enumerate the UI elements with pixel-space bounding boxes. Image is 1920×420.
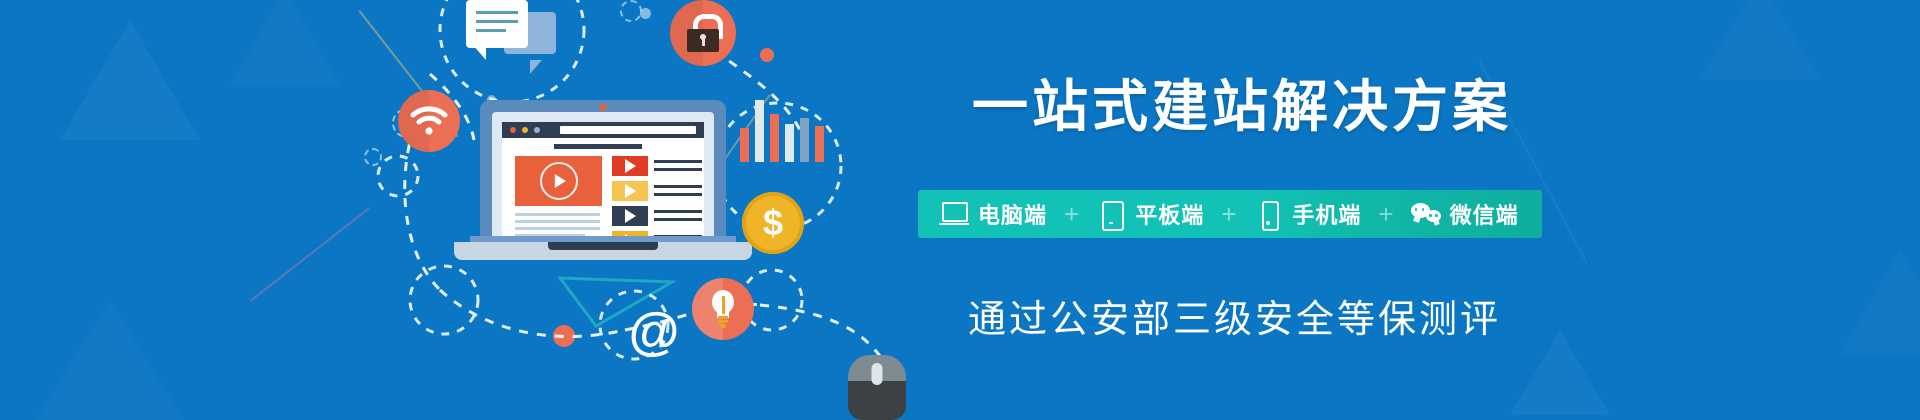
- tablet-icon: [1096, 201, 1126, 227]
- mouse-icon: [848, 355, 906, 420]
- laptop-camera: [600, 104, 607, 111]
- body-text-line: [515, 220, 600, 223]
- page-title: 一站式建站解决方案: [972, 62, 1512, 143]
- browser-dot-yellow: [522, 127, 528, 133]
- list-text-line: [654, 210, 702, 213]
- video-thumbnail: [612, 206, 648, 226]
- chart-bar: [740, 128, 749, 162]
- play-triangle-icon: [554, 174, 565, 188]
- device-item-phone[interactable]: 手机端: [1250, 198, 1364, 230]
- chart-bar: [755, 100, 764, 162]
- phone-icon: [1253, 201, 1283, 227]
- chart-bar: [770, 114, 779, 162]
- browser-dot-red: [510, 127, 516, 133]
- list-text-line: [654, 168, 702, 171]
- device-label: 平板端: [1135, 198, 1204, 230]
- plus-separator: +: [1364, 201, 1407, 227]
- list-text-line: [654, 218, 702, 221]
- dollar-coin-icon: $: [742, 192, 804, 254]
- plus-separator: +: [1207, 201, 1250, 227]
- device-item-desktop[interactable]: 电脑端: [936, 198, 1050, 230]
- video-thumbnail: [612, 181, 648, 201]
- browser-url-bar: [560, 126, 696, 134]
- chart-bar: [800, 118, 809, 162]
- mouse-body: [848, 381, 906, 420]
- mouse-wheel: [872, 363, 883, 385]
- list-text-line: [654, 193, 702, 196]
- promo-banner: $ @ 一站式建站解决方案 电脑端 + 平板端 +: [0, 0, 1920, 420]
- body-text-line: [515, 227, 600, 230]
- list-text-line: [654, 185, 702, 188]
- wifi-icon: [398, 90, 460, 152]
- play-triangle-icon: [625, 159, 636, 173]
- lightbulb-icon: [692, 278, 754, 340]
- chart-bar: [815, 126, 824, 162]
- page-heading-line: [554, 144, 642, 149]
- plus-separator: +: [1050, 201, 1093, 227]
- bar-chart-icon: [740, 100, 820, 162]
- body-text-line: [515, 213, 600, 216]
- device-label: 电脑端: [978, 198, 1047, 230]
- list-text-line: [654, 160, 702, 163]
- device-label: 微信端: [1450, 198, 1519, 230]
- play-triangle-icon: [625, 184, 636, 198]
- browser-toolbar: [502, 122, 704, 138]
- video-thumbnail: [612, 156, 648, 176]
- subtitle: 通过公安部三级安全等保测评: [968, 288, 1501, 343]
- play-triangle-icon: [625, 209, 636, 223]
- chat-bubble-icon: [466, 0, 556, 62]
- laptop-trackpad: [548, 242, 658, 250]
- desktop-icon: [939, 201, 969, 227]
- device-support-bar: 电脑端 + 平板端 + 手机端 + 微信端: [918, 190, 1542, 238]
- device-item-tablet[interactable]: 平板端: [1093, 198, 1207, 230]
- wechat-icon: [1411, 201, 1441, 227]
- at-sign-icon: @: [622, 300, 686, 364]
- lock-icon: [670, 0, 736, 66]
- video-hero: [515, 156, 602, 206]
- device-label: 手机端: [1292, 198, 1361, 230]
- browser-dot-blue: [534, 127, 540, 133]
- browser-window: [502, 122, 704, 246]
- laptop-icon: [480, 100, 726, 260]
- chart-bar: [785, 124, 794, 162]
- device-item-wechat[interactable]: 微信端: [1408, 198, 1522, 230]
